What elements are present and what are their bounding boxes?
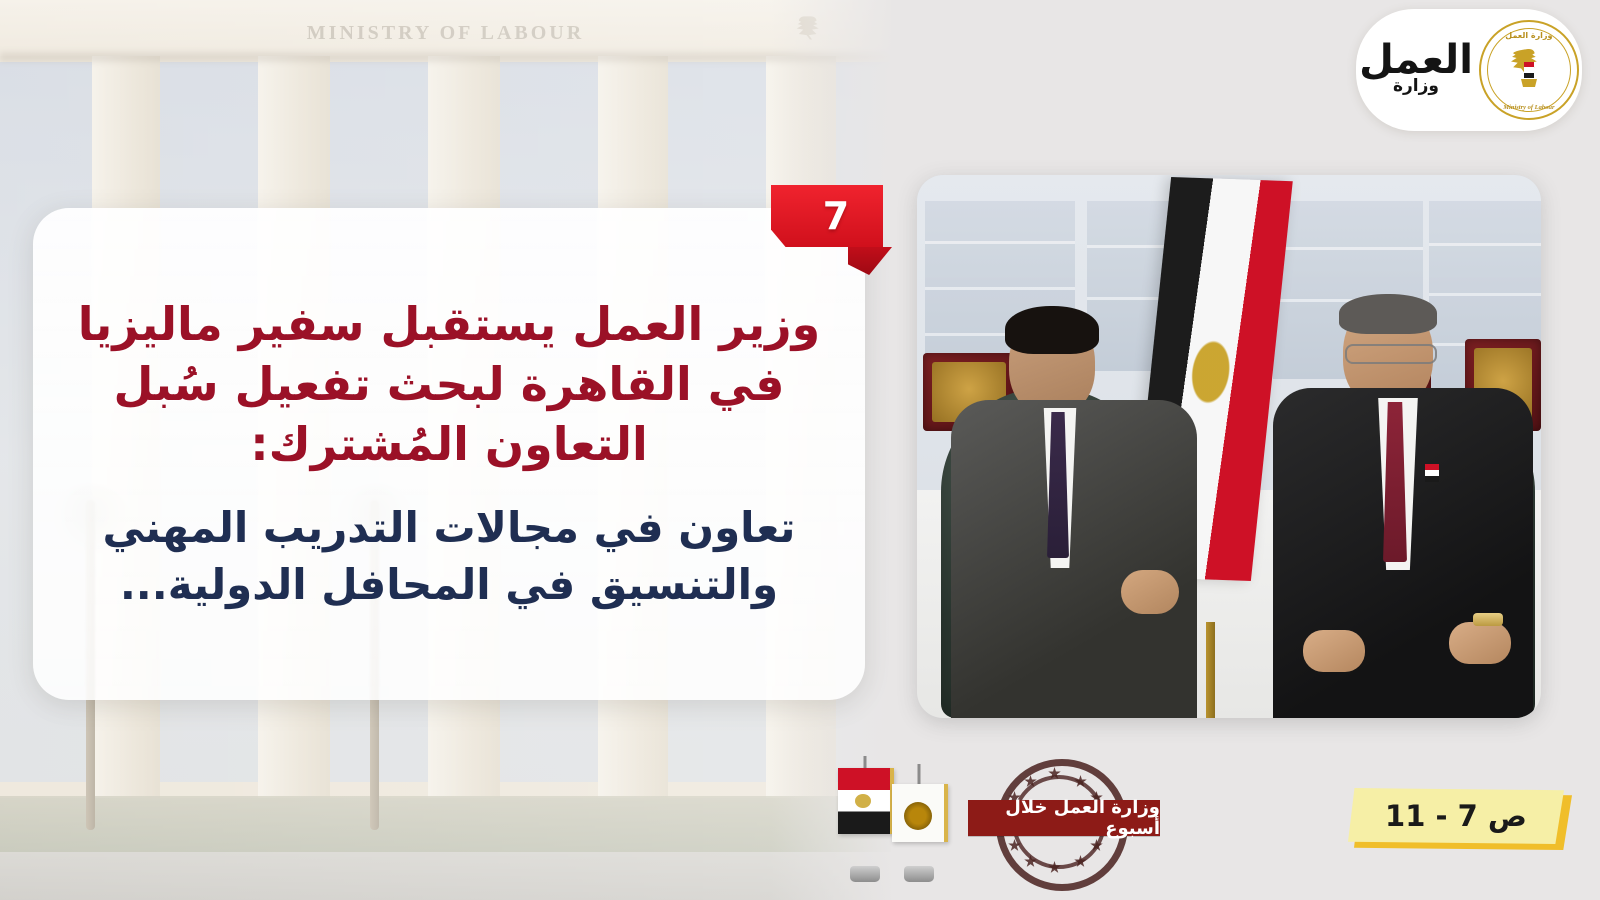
desk-flag-ministry [890,764,948,882]
person-hand [1303,630,1365,672]
flag-base [904,866,934,882]
page-badge-face: ص 7 - 11 [1348,788,1564,844]
desk-flags-group [836,752,952,882]
ministry-flag-cloth [892,784,948,842]
person-hair [1005,306,1099,354]
ministry-logo: العمل وزارة وزارة العمل Ministry of Labo… [1356,9,1582,131]
eagle-emblem-icon [1507,46,1551,94]
ministry-logo-arabic-text: العمل وزارة [1359,42,1473,98]
person-ambassador [947,298,1197,718]
wristwatch-icon [1473,613,1503,626]
eyeglasses-icon [1345,344,1437,364]
person-hand [1121,570,1179,614]
slide-number-value: 7 [805,197,849,235]
page-title: وزير العمل يستقبل سفير ماليزيا في القاهر… [67,295,831,474]
egypt-flag-cloth [838,768,894,834]
infographic-slide: MINISTRY OF LABOUR وزير العمل يستقبل سفي… [0,0,1600,900]
stamp-label-bar: وزارة العمل خلال أسبوع [968,800,1160,836]
page-subtitle: تعاون في مجالات التدريب المهني والتنسيق … [69,500,829,613]
flag-base [850,866,880,882]
ministry-seal-icon: وزارة العمل Ministry of Labour [1479,20,1579,120]
person-hair [1339,294,1437,334]
series-stamp: وزارة العمل خلال أسبوع [968,757,1160,879]
flag-pole [1206,622,1215,718]
slide-number-ribbon: 7 [771,185,883,247]
page-number-text: ص 7 - 11 [1385,799,1527,833]
headline-card: وزير العمل يستقبل سفير ماليزيا في القاهر… [33,208,865,700]
desk-flag-egypt [836,756,894,882]
seal-top-text: وزارة العمل [1481,31,1577,40]
person-hand [1449,622,1511,664]
meeting-photo [917,175,1541,718]
stamp-label-text: وزارة العمل خلال أسبوع [968,797,1160,839]
flag-lapel-pin-icon [1425,464,1439,482]
seal-bottom-text: Ministry of Labour [1481,104,1577,111]
page-number-badge: ص 7 - 11 [1348,788,1572,848]
person-minister [1273,288,1533,718]
